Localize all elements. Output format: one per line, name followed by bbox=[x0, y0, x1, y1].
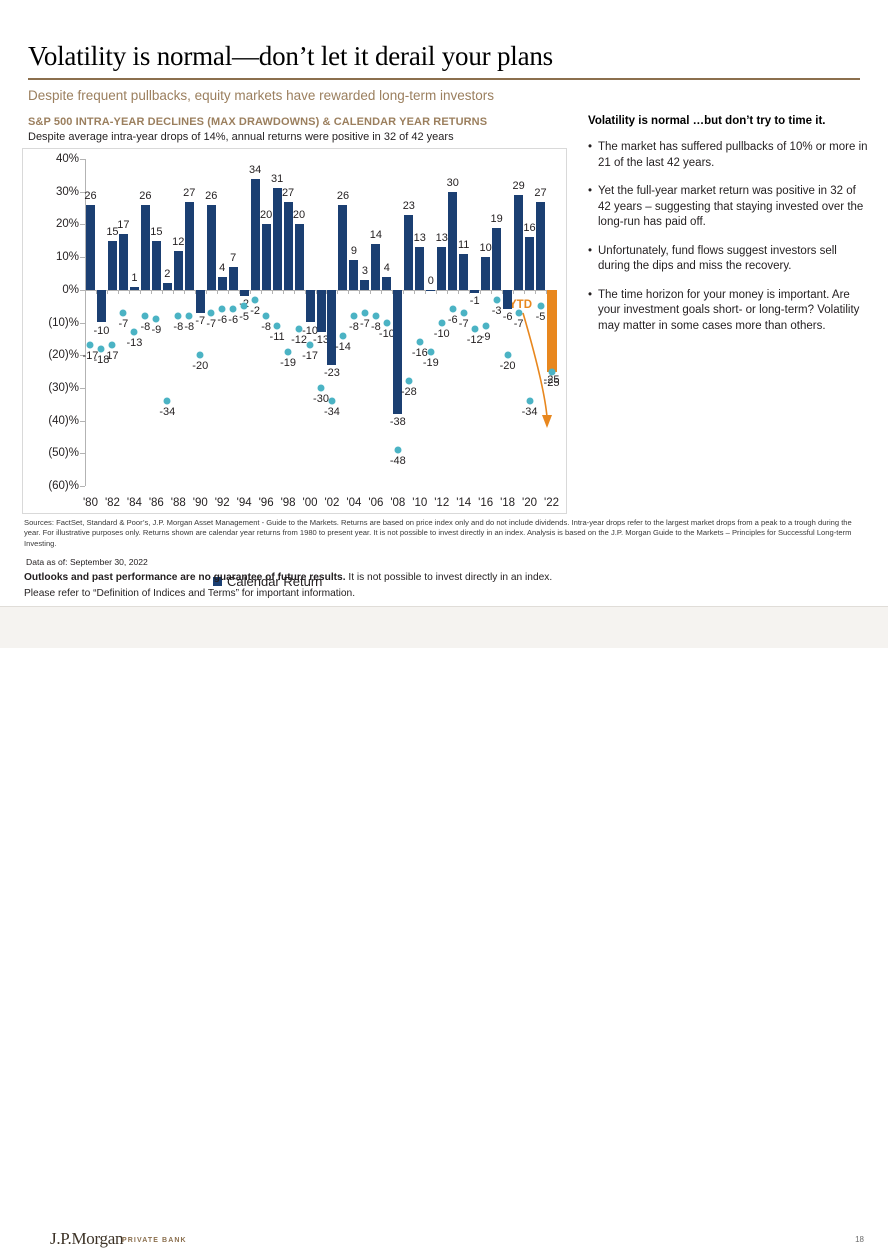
bar-value-label: 27 bbox=[534, 187, 546, 199]
x-axis-tick-label: '20 bbox=[522, 497, 537, 509]
disclaimer-primary: Outlooks and past performance are no gua… bbox=[24, 572, 864, 583]
bar-value-label: 26 bbox=[337, 190, 349, 202]
dot-max-drawdown bbox=[120, 309, 127, 316]
bar-calendar-return bbox=[338, 205, 347, 290]
drawdown-value-label: -6 bbox=[217, 314, 227, 326]
title-divider bbox=[28, 78, 860, 80]
bullet-dot-icon: • bbox=[588, 184, 598, 231]
drawdown-value-label: -7 bbox=[119, 318, 129, 330]
x-axis-tick-mark bbox=[140, 290, 141, 294]
drawdown-value-label: -5 bbox=[239, 311, 249, 323]
insights-bullet-text: The market has suffered pullbacks of 10%… bbox=[598, 140, 868, 171]
y-axis-tick-mark bbox=[80, 224, 85, 225]
bar-value-label: 15 bbox=[150, 226, 162, 238]
slide-subtitle: Despite frequent pullbacks, equity marke… bbox=[28, 88, 628, 103]
y-axis-tick-label: 20% bbox=[56, 218, 79, 230]
disclaimer-secondary: Please refer to “Definition of Indices a… bbox=[24, 588, 864, 599]
x-axis-tick-mark bbox=[217, 290, 218, 294]
bar-calendar-return bbox=[404, 215, 413, 290]
x-axis-tick-mark bbox=[129, 290, 130, 294]
dot-max-drawdown bbox=[515, 309, 522, 316]
dot-max-drawdown bbox=[328, 397, 335, 404]
y-axis-tick-label: 30% bbox=[56, 186, 79, 198]
bar-value-label: 13 bbox=[414, 232, 426, 244]
bar-value-label: 14 bbox=[370, 229, 382, 241]
dot-max-drawdown bbox=[285, 348, 292, 355]
x-axis-tick-label: '16 bbox=[478, 497, 493, 509]
bar-calendar-return bbox=[97, 290, 106, 323]
bar-value-label: -1 bbox=[470, 295, 480, 307]
x-axis-tick-mark bbox=[436, 290, 437, 294]
bar-value-label: 31 bbox=[271, 173, 283, 185]
chart-subhead-label: Despite average intra-year drops of 14%,… bbox=[28, 131, 588, 143]
bar-calendar-return bbox=[503, 290, 512, 310]
dot-max-drawdown bbox=[219, 306, 226, 313]
bar-value-label: 20 bbox=[260, 209, 272, 221]
bar-value-label: 17 bbox=[117, 219, 129, 231]
x-axis-tick-label: '90 bbox=[193, 497, 208, 509]
y-axis-tick-label: (40)% bbox=[48, 415, 79, 427]
insights-bullet-text: Yet the full-year market return was posi… bbox=[598, 184, 868, 231]
bar-value-label: 20 bbox=[293, 209, 305, 221]
bar-calendar-return bbox=[108, 241, 117, 290]
bar-value-label: 3 bbox=[362, 265, 368, 277]
x-axis-tick-mark bbox=[85, 290, 86, 294]
disclaimer-bold-text: Outlooks and past performance are no gua… bbox=[24, 572, 346, 583]
drawdown-value-label: -9 bbox=[481, 331, 491, 343]
page-title: Volatility is normal—don’t let it derail… bbox=[28, 40, 858, 72]
bar-calendar-return bbox=[306, 290, 315, 323]
x-axis-tick-label: '04 bbox=[346, 497, 361, 509]
bar-calendar-return bbox=[229, 267, 238, 290]
x-axis-tick-mark bbox=[184, 290, 185, 294]
bar-value-label: 1 bbox=[131, 272, 137, 284]
drawdown-value-label: -34 bbox=[522, 406, 538, 418]
bar-value-label: 23 bbox=[403, 200, 415, 212]
dot-max-drawdown bbox=[548, 368, 555, 375]
bar-calendar-return bbox=[284, 202, 293, 290]
y-axis-tick-label: 40% bbox=[56, 153, 79, 165]
dot-max-drawdown bbox=[372, 312, 379, 319]
bar-calendar-return bbox=[317, 290, 326, 333]
bar-calendar-return bbox=[240, 290, 249, 297]
bar-calendar-return bbox=[86, 205, 95, 290]
x-axis-tick-mark bbox=[228, 290, 229, 294]
x-axis-tick-mark bbox=[491, 290, 492, 294]
y-axis-tick-label: 10% bbox=[56, 251, 79, 263]
dot-max-drawdown bbox=[109, 342, 116, 349]
y-axis-tick-label: 0% bbox=[62, 284, 79, 296]
dot-max-drawdown bbox=[416, 339, 423, 346]
drawdown-value-label: -13 bbox=[126, 337, 142, 349]
sources-note: Sources: FactSet, Standard & Poor’s, J.P… bbox=[24, 518, 864, 549]
bar-calendar-return bbox=[218, 277, 227, 290]
drawdown-value-label: -34 bbox=[324, 406, 340, 418]
bar-calendar-return bbox=[207, 205, 216, 290]
x-axis-tick-label: '00 bbox=[303, 497, 318, 509]
x-axis-tick-mark bbox=[381, 290, 382, 294]
y-axis-tick-mark bbox=[80, 323, 85, 324]
bar-value-label: 7 bbox=[230, 252, 236, 264]
bar-calendar-return bbox=[459, 254, 468, 290]
drawdown-value-label: -7 bbox=[514, 318, 524, 330]
x-axis-tick-mark bbox=[250, 290, 251, 294]
x-axis-tick-mark bbox=[118, 290, 119, 294]
drawdown-value-label: -6 bbox=[448, 314, 458, 326]
dot-max-drawdown bbox=[383, 319, 390, 326]
drawdown-value-label: -9 bbox=[151, 324, 161, 336]
x-axis-tick-label: '94 bbox=[237, 497, 252, 509]
disclaimer-rest-text: It is not possible to invest directly in… bbox=[346, 572, 553, 583]
bar-calendar-return-ytd bbox=[547, 290, 557, 372]
bar-calendar-return bbox=[514, 195, 523, 290]
bar-value-label: 4 bbox=[384, 262, 390, 274]
jpmorgan-logo: J.P.Morgan bbox=[50, 1229, 123, 1249]
x-axis-tick-mark bbox=[524, 290, 525, 294]
bar-calendar-return bbox=[536, 202, 545, 290]
bar-calendar-return bbox=[426, 290, 435, 291]
bar-calendar-return bbox=[295, 224, 304, 289]
bar-value-label: -7 bbox=[195, 315, 205, 327]
bar-calendar-return bbox=[492, 228, 501, 290]
bar-calendar-return bbox=[360, 280, 369, 290]
dot-max-drawdown bbox=[394, 447, 401, 454]
y-axis-tick-label: (50)% bbox=[48, 447, 79, 459]
bullet-dot-icon: • bbox=[588, 140, 598, 171]
bar-value-label: -38 bbox=[390, 416, 406, 428]
bar-calendar-return bbox=[481, 257, 490, 290]
dot-max-drawdown bbox=[208, 309, 215, 316]
drawdown-value-label: -19 bbox=[423, 357, 439, 369]
insights-bullet: •Unfortunately, fund flows suggest inves… bbox=[588, 244, 868, 275]
drawdown-value-label: -25 bbox=[544, 377, 560, 389]
bar-value-label: 0 bbox=[428, 275, 434, 287]
x-axis-tick-label: '18 bbox=[500, 497, 515, 509]
bar-value-label: 4 bbox=[219, 262, 225, 274]
bar-value-label: -6 bbox=[503, 311, 513, 323]
x-axis-tick-mark bbox=[261, 290, 262, 294]
bar-calendar-return bbox=[382, 277, 391, 290]
bar-value-label: 27 bbox=[282, 187, 294, 199]
bar-value-label: 27 bbox=[183, 187, 195, 199]
x-axis-tick-mark bbox=[480, 290, 481, 294]
dot-max-drawdown bbox=[504, 352, 511, 359]
dot-max-drawdown bbox=[131, 329, 138, 336]
dot-max-drawdown bbox=[471, 326, 478, 333]
x-axis-tick-mark bbox=[294, 290, 295, 294]
bar-value-label: 34 bbox=[249, 164, 261, 176]
x-axis-tick-mark bbox=[206, 290, 207, 294]
x-axis-tick-mark bbox=[370, 290, 371, 294]
chart-eyebrow-label: S&P 500 INTRA-YEAR DECLINES (MAX DRAWDOW… bbox=[28, 116, 588, 128]
x-axis-tick-label: '80 bbox=[83, 497, 98, 509]
dot-max-drawdown bbox=[274, 322, 281, 329]
dot-max-drawdown bbox=[339, 332, 346, 339]
dot-max-drawdown bbox=[482, 322, 489, 329]
drawdown-value-label: -7 bbox=[206, 318, 216, 330]
dot-max-drawdown bbox=[427, 348, 434, 355]
bar-value-label: -10 bbox=[94, 325, 110, 337]
drawdown-value-label: -34 bbox=[159, 406, 175, 418]
x-axis-tick-mark bbox=[535, 290, 536, 294]
dot-max-drawdown bbox=[318, 384, 325, 391]
chart-plot-area: 40%30%20%10%0%(10)%(20)%(30)%(40)%(50)%(… bbox=[85, 159, 557, 486]
drawdown-value-label: -6 bbox=[228, 314, 238, 326]
x-axis-tick-label: '96 bbox=[259, 497, 274, 509]
dot-max-drawdown bbox=[460, 309, 467, 316]
insights-bullet-list: •The market has suffered pullbacks of 10… bbox=[588, 140, 868, 334]
drawdown-value-label: -7 bbox=[459, 318, 469, 330]
dot-max-drawdown bbox=[98, 345, 105, 352]
bar-calendar-return bbox=[470, 290, 479, 293]
drawdown-value-label: -8 bbox=[140, 321, 150, 333]
bar-calendar-return bbox=[141, 205, 150, 290]
x-axis-tick-mark bbox=[359, 290, 360, 294]
dot-max-drawdown bbox=[526, 397, 533, 404]
bar-calendar-return bbox=[448, 192, 457, 290]
drawdown-value-label: -30 bbox=[313, 393, 329, 405]
bar-calendar-return bbox=[327, 290, 336, 365]
drawdown-value-label: -8 bbox=[173, 321, 183, 333]
bar-value-label: -23 bbox=[324, 367, 340, 379]
drawdown-value-label: -14 bbox=[335, 341, 351, 353]
x-axis-tick-label: '12 bbox=[434, 497, 449, 509]
y-axis-tick-mark bbox=[80, 257, 85, 258]
y-axis-tick-mark bbox=[80, 486, 85, 487]
dot-max-drawdown bbox=[87, 342, 94, 349]
bar-calendar-return bbox=[525, 237, 534, 289]
bar-calendar-return bbox=[262, 224, 271, 289]
bar-value-label: 26 bbox=[205, 190, 217, 202]
x-axis-tick-label: '14 bbox=[456, 497, 471, 509]
dot-max-drawdown bbox=[230, 306, 237, 313]
bar-calendar-return bbox=[130, 287, 139, 290]
dot-max-drawdown bbox=[142, 312, 149, 319]
bar-value-label: 12 bbox=[172, 236, 184, 248]
bar-calendar-return bbox=[415, 247, 424, 290]
x-axis-tick-mark bbox=[173, 290, 174, 294]
dot-max-drawdown bbox=[252, 296, 259, 303]
x-axis-tick-label: '88 bbox=[171, 497, 186, 509]
dot-max-drawdown bbox=[438, 319, 445, 326]
bar-calendar-return bbox=[251, 179, 260, 290]
jpmorgan-logo-subtitle: PRIVATE BANK bbox=[122, 1237, 187, 1244]
x-axis-tick-label: '02 bbox=[324, 497, 339, 509]
bar-value-label: 2 bbox=[164, 268, 170, 280]
dot-max-drawdown bbox=[493, 296, 500, 303]
bar-calendar-return bbox=[119, 234, 128, 290]
drawdown-value-label: -19 bbox=[280, 357, 296, 369]
bar-value-label: 26 bbox=[139, 190, 151, 202]
page-number: 18 bbox=[855, 1235, 864, 1244]
x-axis-tick-label: '82 bbox=[105, 497, 120, 509]
drawdown-value-label: -28 bbox=[401, 386, 417, 398]
bar-calendar-return bbox=[371, 244, 380, 290]
bar-value-label: 30 bbox=[447, 177, 459, 189]
bullet-dot-icon: • bbox=[588, 244, 598, 275]
dot-max-drawdown bbox=[537, 303, 544, 310]
drawdown-value-label: -48 bbox=[390, 455, 406, 467]
drawdown-value-label: -8 bbox=[349, 321, 359, 333]
bar-value-label: 19 bbox=[491, 213, 503, 225]
y-axis-tick-label: (60)% bbox=[48, 480, 79, 492]
data-as-of-note: Data as of: September 30, 2022 bbox=[26, 557, 148, 567]
insights-bullet: •The market has suffered pullbacks of 10… bbox=[588, 140, 868, 171]
y-axis-tick-mark bbox=[80, 388, 85, 389]
insights-bullet: •Yet the full-year market return was pos… bbox=[588, 184, 868, 231]
insights-panel: Volatility is normal …but don’t try to t… bbox=[588, 115, 868, 347]
insights-bullet: •The time horizon for your money is impo… bbox=[588, 288, 868, 335]
y-axis-tick-mark bbox=[80, 453, 85, 454]
x-axis-tick-label: '06 bbox=[368, 497, 383, 509]
insights-bullet-text: Unfortunately, fund flows suggest invest… bbox=[598, 244, 868, 275]
dot-max-drawdown bbox=[175, 312, 182, 319]
x-axis-tick-mark bbox=[414, 290, 415, 294]
bar-calendar-return bbox=[185, 202, 194, 290]
x-axis-tick-mark bbox=[513, 290, 514, 294]
y-axis-tick-label: (30)% bbox=[48, 382, 79, 394]
chart-container: YTD 40%30%20%10%0%(10)%(20)%(30)%(40)%(5… bbox=[22, 148, 567, 514]
bar-value-label: 16 bbox=[523, 222, 535, 234]
bar-calendar-return bbox=[152, 241, 161, 290]
x-axis-tick-label: '86 bbox=[149, 497, 164, 509]
drawdown-value-label: -20 bbox=[192, 360, 208, 372]
bar-calendar-return bbox=[163, 283, 172, 290]
dot-max-drawdown bbox=[241, 303, 248, 310]
drawdown-value-label: -11 bbox=[270, 331, 285, 343]
x-axis-tick-mark bbox=[337, 290, 338, 294]
x-axis-tick-mark bbox=[348, 290, 349, 294]
bar-calendar-return bbox=[273, 188, 282, 289]
x-axis-tick-mark bbox=[151, 290, 152, 294]
bullet-dot-icon: • bbox=[588, 288, 598, 335]
dot-max-drawdown bbox=[197, 352, 204, 359]
y-axis-tick-mark bbox=[80, 159, 85, 160]
dot-max-drawdown bbox=[153, 316, 160, 323]
bar-calendar-return bbox=[174, 251, 183, 290]
y-axis-tick-mark bbox=[80, 421, 85, 422]
x-axis-tick-mark bbox=[107, 290, 108, 294]
dot-max-drawdown bbox=[449, 306, 456, 313]
x-axis-tick-mark bbox=[162, 290, 163, 294]
drawdown-value-label: -8 bbox=[184, 321, 194, 333]
bar-value-label: 9 bbox=[351, 245, 357, 257]
drawdown-value-label: -2 bbox=[250, 305, 260, 317]
bar-value-label: 10 bbox=[480, 242, 492, 254]
bar-value-label: 13 bbox=[436, 232, 448, 244]
x-axis-tick-mark bbox=[458, 290, 459, 294]
dot-max-drawdown bbox=[350, 312, 357, 319]
insights-title: Volatility is normal …but don’t try to t… bbox=[588, 115, 868, 127]
drawdown-value-label: -3 bbox=[492, 305, 502, 317]
slide-footer: J.P.Morgan PRIVATE BANK 18 bbox=[0, 607, 888, 648]
x-axis-tick-label: '98 bbox=[281, 497, 296, 509]
bar-calendar-return bbox=[196, 290, 205, 313]
drawdown-value-label: 17 bbox=[106, 350, 118, 362]
bar-value-label: 11 bbox=[458, 239, 469, 251]
bar-value-label: 26 bbox=[84, 190, 96, 202]
x-axis-tick-mark bbox=[447, 290, 448, 294]
drawdown-value-label: -17 bbox=[302, 350, 318, 362]
x-axis-tick-label: '22 bbox=[544, 497, 559, 509]
x-axis-tick-label: '92 bbox=[215, 497, 230, 509]
x-axis-tick-label: '84 bbox=[127, 497, 142, 509]
insights-bullet-text: The time horizon for your money is impor… bbox=[598, 288, 868, 335]
y-axis-tick-label: (10)% bbox=[48, 317, 79, 329]
drawdown-value-label: -7 bbox=[360, 318, 370, 330]
x-axis-tick-mark bbox=[283, 290, 284, 294]
x-axis-tick-label: '10 bbox=[412, 497, 427, 509]
dot-max-drawdown bbox=[361, 309, 368, 316]
dot-max-drawdown bbox=[405, 378, 412, 385]
bar-value-label: 29 bbox=[512, 180, 524, 192]
dot-max-drawdown bbox=[263, 312, 270, 319]
bar-calendar-return bbox=[437, 247, 446, 290]
x-axis-tick-mark bbox=[403, 290, 404, 294]
drawdown-value-label: -5 bbox=[536, 311, 546, 323]
dot-max-drawdown bbox=[164, 397, 171, 404]
x-axis-tick-label: '08 bbox=[390, 497, 405, 509]
x-axis-tick-mark bbox=[272, 290, 273, 294]
drawdown-value-label: -10 bbox=[434, 328, 450, 340]
dot-max-drawdown bbox=[186, 312, 193, 319]
y-axis-tick-label: (20)% bbox=[48, 349, 79, 361]
bar-calendar-return bbox=[349, 260, 358, 289]
drawdown-value-label: -20 bbox=[500, 360, 516, 372]
